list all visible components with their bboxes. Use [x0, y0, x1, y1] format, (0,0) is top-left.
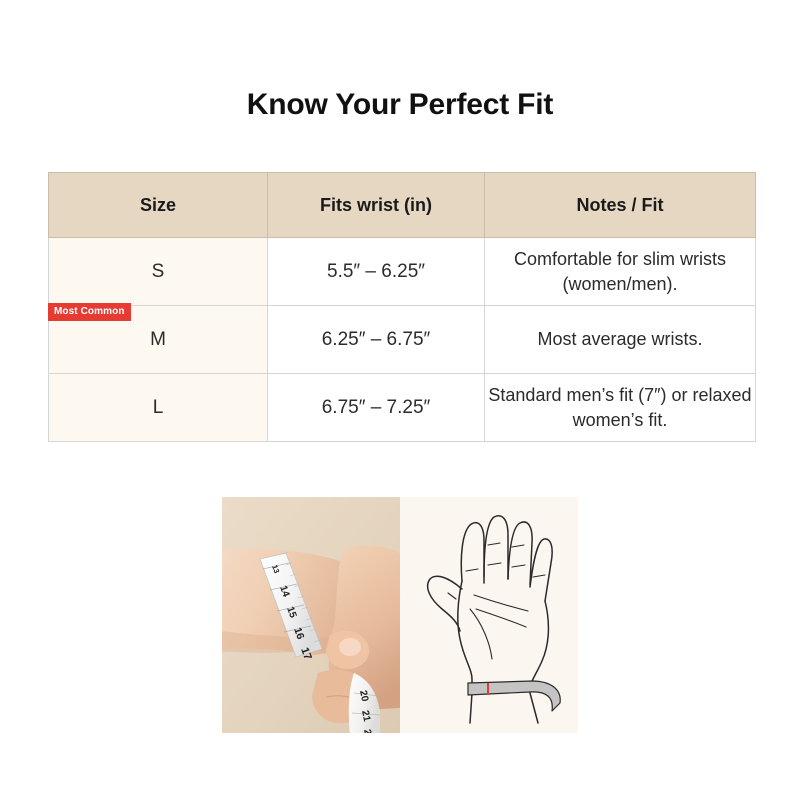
column-header-wrist: Fits wrist (in)	[268, 173, 485, 238]
table-row: M 6.25″ – 6.75″ Most average wrists.	[49, 306, 756, 374]
figure-block: 13 14 15 16 17 20 21 22	[222, 497, 578, 733]
table-row: S 5.5″ – 6.25″ Comfortable for slim wris…	[49, 238, 756, 306]
cell-notes: Most average wrists.	[485, 306, 756, 374]
cell-notes: Standard men’s fit (7″) or relaxed women…	[485, 374, 756, 442]
cell-size: S	[49, 238, 268, 306]
cell-wrist: 6.75″ – 7.25″	[268, 374, 485, 442]
status-badge-most-common: Most Common	[48, 303, 131, 321]
table-row: L 6.75″ – 7.25″ Standard men’s fit (7″) …	[49, 374, 756, 442]
page-title: Know Your Perfect Fit	[0, 88, 800, 122]
hand-wrist-band-illustration	[400, 497, 578, 733]
cell-wrist: 6.25″ – 6.75″	[268, 306, 485, 374]
cell-size: L	[49, 374, 268, 442]
table-header: Size Fits wrist (in) Notes / Fit	[49, 173, 756, 238]
cell-wrist: 5.5″ – 6.25″	[268, 238, 485, 306]
hand-illustration-graphic	[400, 497, 578, 733]
table-header-row: Size Fits wrist (in) Notes / Fit	[49, 173, 756, 238]
cell-notes: Comfortable for slim wrists (women/men).	[485, 238, 756, 306]
size-chart-table: Size Fits wrist (in) Notes / Fit S 5.5″ …	[48, 172, 756, 442]
column-header-notes: Notes / Fit	[485, 173, 756, 238]
table-body: S 5.5″ – 6.25″ Comfortable for slim wris…	[49, 238, 756, 442]
column-header-size: Size	[49, 173, 268, 238]
wrist-photo-graphic: 13 14 15 16 17 20 21 22	[222, 497, 400, 733]
wrist-measurement-photo: 13 14 15 16 17 20 21 22	[222, 497, 400, 733]
